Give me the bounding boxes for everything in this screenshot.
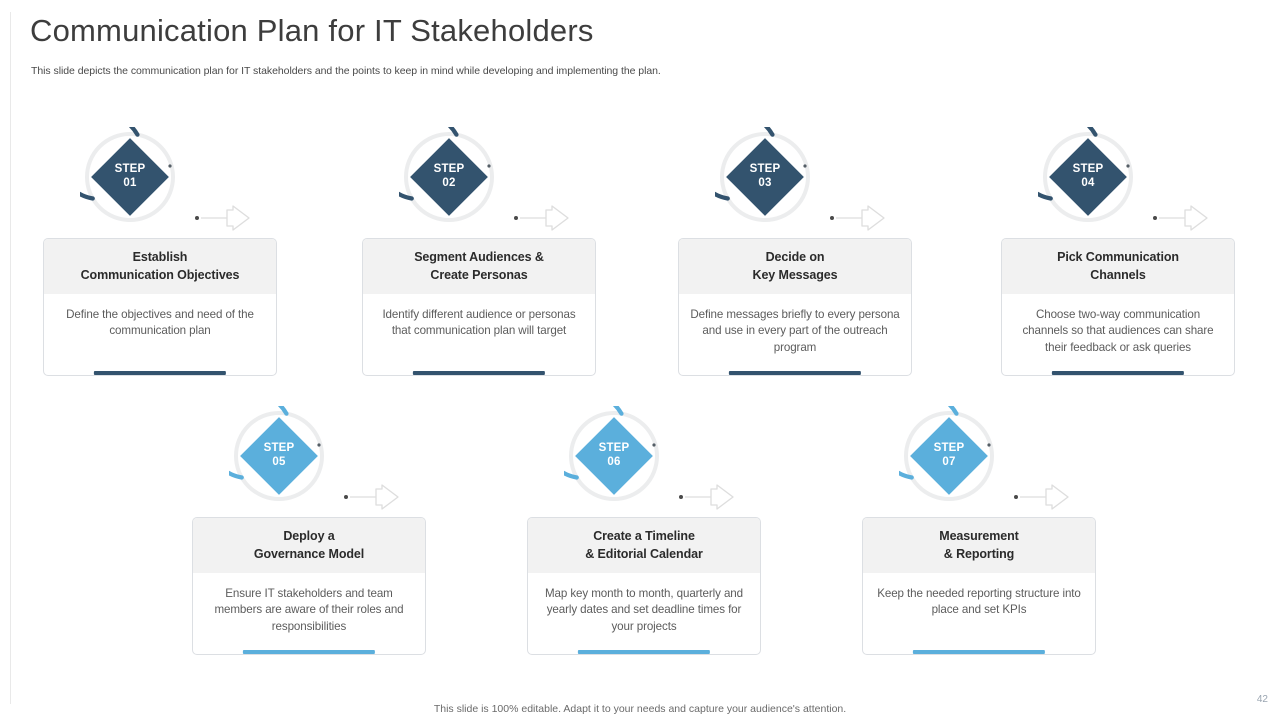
step-card-title: Deploy a Governance Model	[193, 518, 425, 573]
page-title: Communication Plan for IT Stakeholders	[30, 13, 594, 49]
step-badge-07[interactable]: STEP 07	[899, 406, 999, 506]
step-card-body: Map key month to month, quarterly and ye…	[528, 573, 760, 637]
step-card[interactable]: Create a Timeline & Editorial Calendar M…	[527, 517, 761, 655]
step-card-title-line2: Create Personas	[430, 268, 527, 282]
step-card-body: Define messages briefly to every persona…	[679, 294, 911, 358]
step-diamond-icon	[564, 406, 664, 506]
step-card[interactable]: Segment Audiences & Create Personas Iden…	[362, 238, 596, 376]
step-card-accent-bar	[578, 650, 710, 654]
step-connector-arrow-icon	[677, 484, 739, 515]
step-card-accent-bar	[913, 650, 1045, 654]
step-card-accent-bar	[1052, 371, 1184, 375]
step-badge-02[interactable]: STEP 02	[399, 127, 499, 227]
step-card-title-line2: Governance Model	[254, 547, 364, 561]
step-card-title-line2: & Editorial Calendar	[585, 547, 702, 561]
step-diamond-icon	[899, 406, 999, 506]
step-card-accent-bar	[729, 371, 861, 375]
step-badge-03[interactable]: STEP 03	[715, 127, 815, 227]
step-diamond-icon	[1038, 127, 1138, 227]
step-badge-06[interactable]: STEP 06	[564, 406, 664, 506]
step-badge-04[interactable]: STEP 04	[1038, 127, 1138, 227]
page-subtitle: This slide depicts the communication pla…	[31, 65, 661, 77]
step-card-title-line1: Segment Audiences &	[414, 250, 544, 264]
step-diamond-icon	[80, 127, 180, 227]
step-connector-arrow-icon	[1151, 205, 1213, 236]
step-card-body: Choose two-way communication channels so…	[1002, 294, 1234, 358]
step-card-body: Identify different audience or personas …	[363, 294, 595, 341]
step-card-title-line2: Channels	[1090, 268, 1145, 282]
step-badge-01[interactable]: STEP 01	[80, 127, 180, 227]
step-connector-arrow-icon	[512, 205, 574, 236]
step-card-title: Establish Communication Objectives	[44, 239, 276, 294]
step-card[interactable]: Pick Communication Channels Choose two-w…	[1001, 238, 1235, 376]
step-card-title: Decide on Key Messages	[679, 239, 911, 294]
step-card-title: Segment Audiences & Create Personas	[363, 239, 595, 294]
step-card[interactable]: Decide on Key Messages Define messages b…	[678, 238, 912, 376]
step-card-title-line1: Pick Communication	[1057, 250, 1179, 264]
step-badge-05[interactable]: STEP 05	[229, 406, 329, 506]
step-card[interactable]: Measurement & Reporting Keep the needed …	[862, 517, 1096, 655]
step-card-accent-bar	[94, 371, 226, 375]
step-card-title: Pick Communication Channels	[1002, 239, 1234, 294]
step-connector-arrow-icon	[342, 484, 404, 515]
step-connector-arrow-icon	[1012, 484, 1074, 515]
step-card-title-line1: Deploy a	[283, 529, 334, 543]
step-diamond-icon	[715, 127, 815, 227]
step-card-accent-bar	[243, 650, 375, 654]
step-card-body: Keep the needed reporting structure into…	[863, 573, 1095, 620]
step-card-title-line1: Measurement	[939, 529, 1019, 543]
step-card-title-line2: Communication Objectives	[81, 268, 240, 282]
step-connector-arrow-icon	[828, 205, 890, 236]
step-diamond-icon	[229, 406, 329, 506]
step-card-title-line2: Key Messages	[753, 268, 838, 282]
step-diamond-icon	[399, 127, 499, 227]
page-number: 42	[1257, 694, 1268, 705]
step-card-accent-bar	[413, 371, 545, 375]
step-card-title: Measurement & Reporting	[863, 518, 1095, 573]
step-card-title-line1: Create a Timeline	[593, 529, 695, 543]
step-card-body: Ensure IT stakeholders and team members …	[193, 573, 425, 637]
step-card[interactable]: Deploy a Governance Model Ensure IT stak…	[192, 517, 426, 655]
step-card-title-line1: Establish	[133, 250, 188, 264]
step-card-title-line1: Decide on	[766, 250, 825, 264]
slide-canvas: Communication Plan for IT Stakeholders T…	[0, 0, 1280, 720]
step-connector-arrow-icon	[193, 205, 255, 236]
step-card-title: Create a Timeline & Editorial Calendar	[528, 518, 760, 573]
slide-left-rule	[10, 12, 11, 704]
step-card-body: Define the objectives and need of the co…	[44, 294, 276, 341]
footer-note: This slide is 100% editable. Adapt it to…	[0, 703, 1280, 715]
step-card[interactable]: Establish Communication Objectives Defin…	[43, 238, 277, 376]
step-card-title-line2: & Reporting	[944, 547, 1014, 561]
